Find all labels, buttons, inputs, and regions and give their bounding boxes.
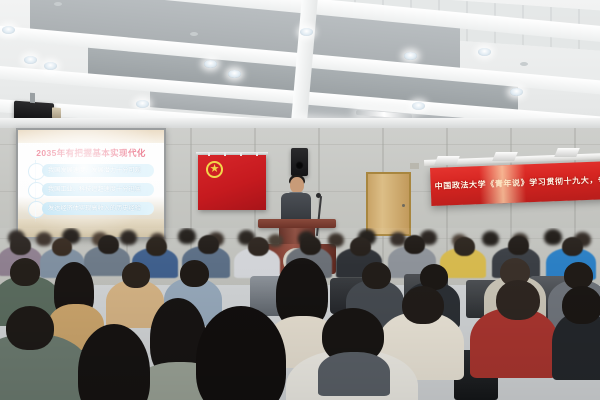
wall-trim bbox=[0, 118, 600, 128]
flag-star-emblem-icon: ★ bbox=[206, 161, 223, 178]
smoke-detector-icon bbox=[190, 32, 198, 36]
audience bbox=[0, 228, 600, 400]
wall-sign bbox=[410, 163, 419, 169]
projection-screen-frame: 2035年有把握基本实现代化 我国发展速度、发展潜力十分可观 我国工业、科技追赶… bbox=[16, 128, 166, 239]
speaker-head bbox=[290, 177, 304, 193]
banner-highlight bbox=[479, 164, 526, 204]
banner-bracket bbox=[434, 156, 460, 165]
side-door[interactable] bbox=[366, 172, 411, 236]
door-knob-icon bbox=[402, 204, 405, 207]
recessed-downlight bbox=[2, 26, 15, 34]
recessed-downlight bbox=[44, 62, 57, 70]
lecture-hall-photo: 2035年有把握基本实现代化 我国发展速度、发展潜力十分可观 我国工业、科技追赶… bbox=[0, 0, 600, 400]
smoke-detector-icon bbox=[520, 62, 528, 66]
recessed-downlight bbox=[136, 100, 149, 108]
communist-youth-league-flag: ★ bbox=[198, 155, 266, 210]
red-banner: 中国政法大学《青年说》学习贯彻十九大，争当党的好青年 bbox=[430, 161, 600, 206]
recessed-downlight bbox=[412, 102, 425, 110]
recessed-downlight bbox=[24, 56, 37, 64]
wall-speaker bbox=[291, 148, 308, 176]
screen-glare bbox=[18, 130, 164, 237]
star-icon: ★ bbox=[210, 164, 220, 175]
recessed-downlight bbox=[204, 60, 217, 68]
recessed-downlight bbox=[510, 88, 523, 96]
banner-bracket bbox=[492, 152, 518, 161]
recessed-downlight bbox=[404, 52, 417, 60]
recessed-downlight bbox=[478, 48, 491, 56]
projection-screen: 2035年有把握基本实现代化 我国发展速度、发展潜力十分可观 我国工业、科技追赶… bbox=[18, 130, 164, 237]
podium-top bbox=[258, 219, 336, 228]
banner-bracket bbox=[554, 148, 580, 157]
smoke-detector-icon bbox=[54, 2, 62, 6]
recessed-downlight bbox=[300, 28, 313, 36]
recessed-downlight bbox=[228, 70, 241, 78]
